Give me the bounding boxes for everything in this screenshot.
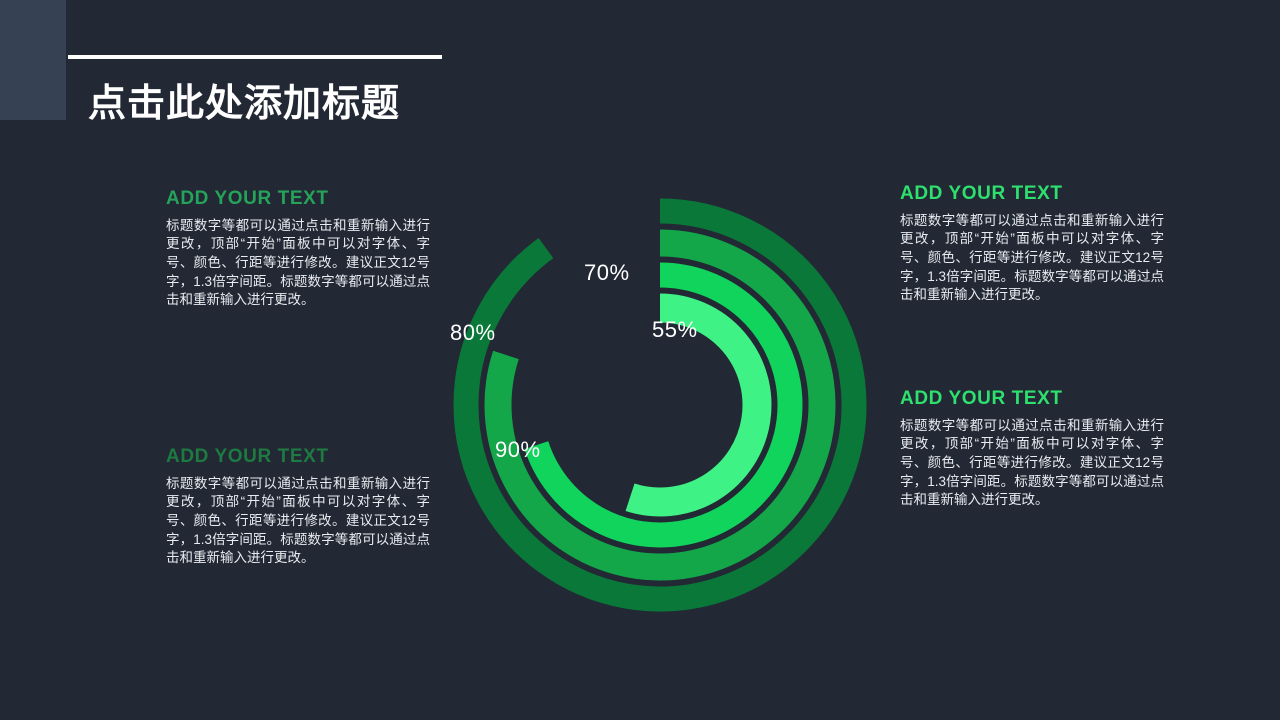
- donut-arc-80: [498, 243, 822, 567]
- block-body-bottom-right: 标题数字等都可以通过点击和重新输入进行更改，顶部“开始”面板中可以对字体、字号、…: [900, 417, 1164, 510]
- block-heading-bottom-right: ADD YOUR TEXT: [900, 388, 1164, 411]
- text-block-top-right: ADD YOUR TEXT 标题数字等都可以通过点击和重新输入进行更改，顶部“开…: [900, 183, 1164, 305]
- text-block-bottom-right: ADD YOUR TEXT 标题数字等都可以通过点击和重新输入进行更改，顶部“开…: [900, 388, 1164, 510]
- arc-value-label-55: 55%: [652, 317, 698, 343]
- concentric-donut-chart: 55%70%80%90%: [455, 200, 865, 610]
- arc-value-label-70: 70%: [584, 260, 630, 286]
- block-body-bottom-left: 标题数字等都可以通过点击和重新输入进行更改，顶部“开始”面板中可以对字体、字号、…: [166, 475, 430, 568]
- arc-value-label-90: 90%: [495, 437, 541, 463]
- block-body-top-left: 标题数字等都可以通过点击和重新输入进行更改，顶部“开始”面板中可以对字体、字号、…: [166, 217, 430, 310]
- block-heading-top-left: ADD YOUR TEXT: [166, 188, 430, 211]
- title-underline-rule: [68, 55, 442, 59]
- text-block-top-left: ADD YOUR TEXT 标题数字等都可以通过点击和重新输入进行更改，顶部“开…: [166, 188, 430, 310]
- block-body-top-right: 标题数字等都可以通过点击和重新输入进行更改，顶部“开始”面板中可以对字体、字号、…: [900, 212, 1164, 305]
- arc-value-label-80: 80%: [450, 320, 496, 346]
- text-block-bottom-left: ADD YOUR TEXT 标题数字等都可以通过点击和重新输入进行更改，顶部“开…: [166, 446, 430, 568]
- header-accent-bar: [0, 0, 66, 120]
- donut-svg: [455, 200, 865, 610]
- page-title: 点击此处添加标题: [88, 83, 400, 127]
- block-heading-top-right: ADD YOUR TEXT: [900, 183, 1164, 206]
- block-heading-bottom-left: ADD YOUR TEXT: [166, 446, 430, 469]
